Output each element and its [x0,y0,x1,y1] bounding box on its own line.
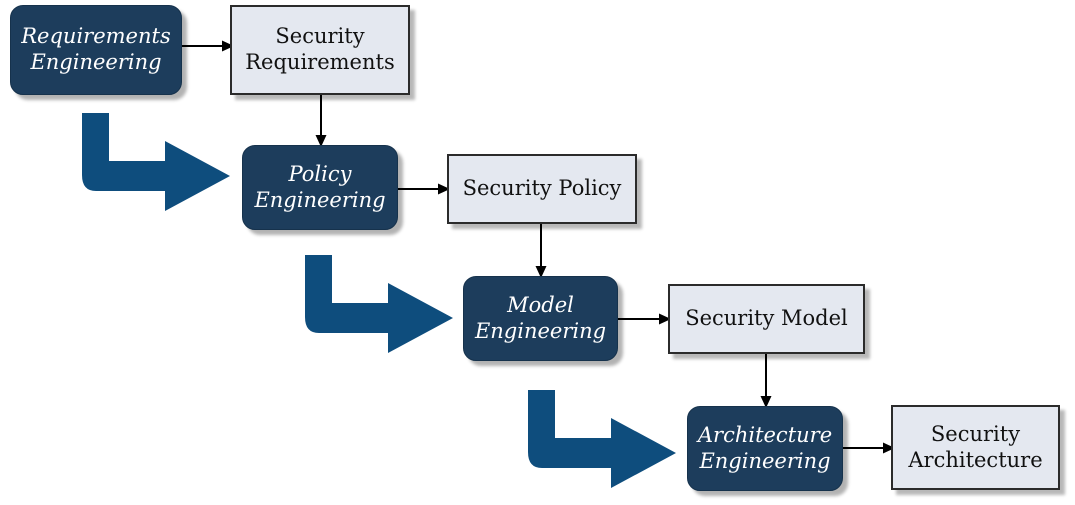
node-requirements-engineering-label: Requirements Engineering [11,24,181,75]
elbow-arrow-model-to-architecture [528,390,693,490]
node-security-requirements-label: Security Requirements [232,24,408,75]
connector-security-model-to-architecture [760,354,772,408]
node-security-architecture[interactable]: Security Architecture [891,405,1060,490]
connector-policy-to-security-policy [398,183,450,195]
elbow-arrow-requirements-to-policy [82,113,247,213]
diagram-canvas: Requirements Engineering Security Requir… [0,0,1075,505]
elbow-arrow-policy-to-model [305,255,470,355]
node-security-policy-label: Security Policy [449,176,635,202]
node-architecture-engineering[interactable]: Architecture Engineering [687,406,843,491]
node-model-engineering-label: Model Engineering [464,293,617,344]
node-policy-engineering-label: Policy Engineering [243,162,397,213]
node-model-engineering[interactable]: Model Engineering [463,276,618,361]
connector-security-requirements-to-policy [315,95,327,147]
node-security-model[interactable]: Security Model [668,284,865,354]
connector-security-policy-to-model [535,224,547,278]
node-architecture-engineering-label: Architecture Engineering [688,423,842,474]
node-policy-engineering[interactable]: Policy Engineering [242,145,398,230]
connector-model-to-security-model [618,313,671,325]
connector-architecture-to-security-architecture [843,442,895,454]
node-security-requirements[interactable]: Security Requirements [230,5,410,95]
node-security-policy[interactable]: Security Policy [447,154,637,224]
node-security-architecture-label: Security Architecture [893,422,1058,473]
node-security-model-label: Security Model [670,306,863,332]
node-requirements-engineering[interactable]: Requirements Engineering [10,5,182,95]
connector-requirements-to-security-requirements [182,40,234,52]
